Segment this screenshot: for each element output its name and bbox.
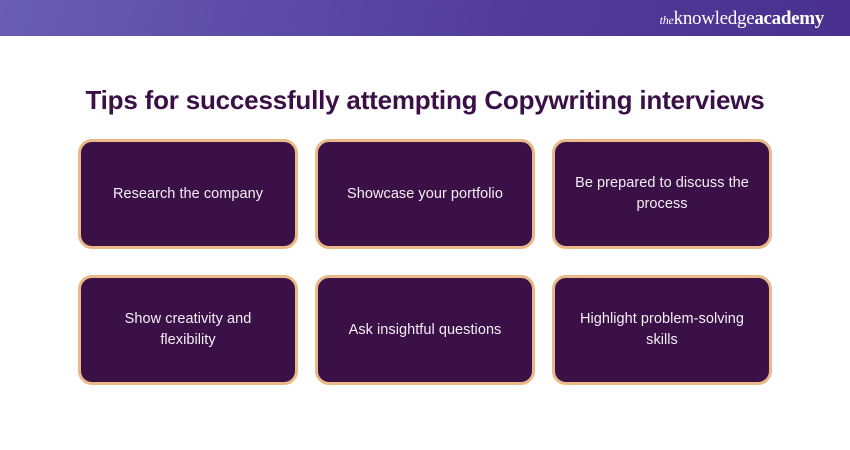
brand-prefix-text: the — [660, 13, 674, 27]
tip-card-label: Ask insightful questions — [349, 320, 502, 341]
tip-card-2: Showcase your portfolio — [315, 139, 535, 249]
brand-suffix-text: academy — [754, 8, 824, 29]
tips-card-grid: Research the company Showcase your portf… — [78, 139, 772, 385]
tip-card-5: Ask insightful questions — [315, 275, 535, 385]
header-bar: theknowledgeacademy — [0, 0, 850, 36]
tip-card-label: Show creativity and flexibility — [97, 309, 279, 350]
brand-logo: theknowledgeacademy — [660, 9, 824, 28]
tip-card-label: Research the company — [113, 184, 263, 205]
tip-card-3: Be prepared to discuss the process — [552, 139, 772, 249]
infographic-page: theknowledgeacademy Tips for successfull… — [0, 0, 850, 450]
tip-card-label: Highlight problem-solving skills — [571, 309, 753, 350]
tip-card-label: Showcase your portfolio — [347, 184, 503, 205]
tip-card-1: Research the company — [78, 139, 298, 249]
page-title: Tips for successfully attempting Copywri… — [0, 85, 850, 116]
brand-middle-text: knowledge — [674, 8, 755, 29]
tip-card-label: Be prepared to discuss the process — [571, 173, 753, 214]
tip-card-6: Highlight problem-solving skills — [552, 275, 772, 385]
tip-card-4: Show creativity and flexibility — [78, 275, 298, 385]
